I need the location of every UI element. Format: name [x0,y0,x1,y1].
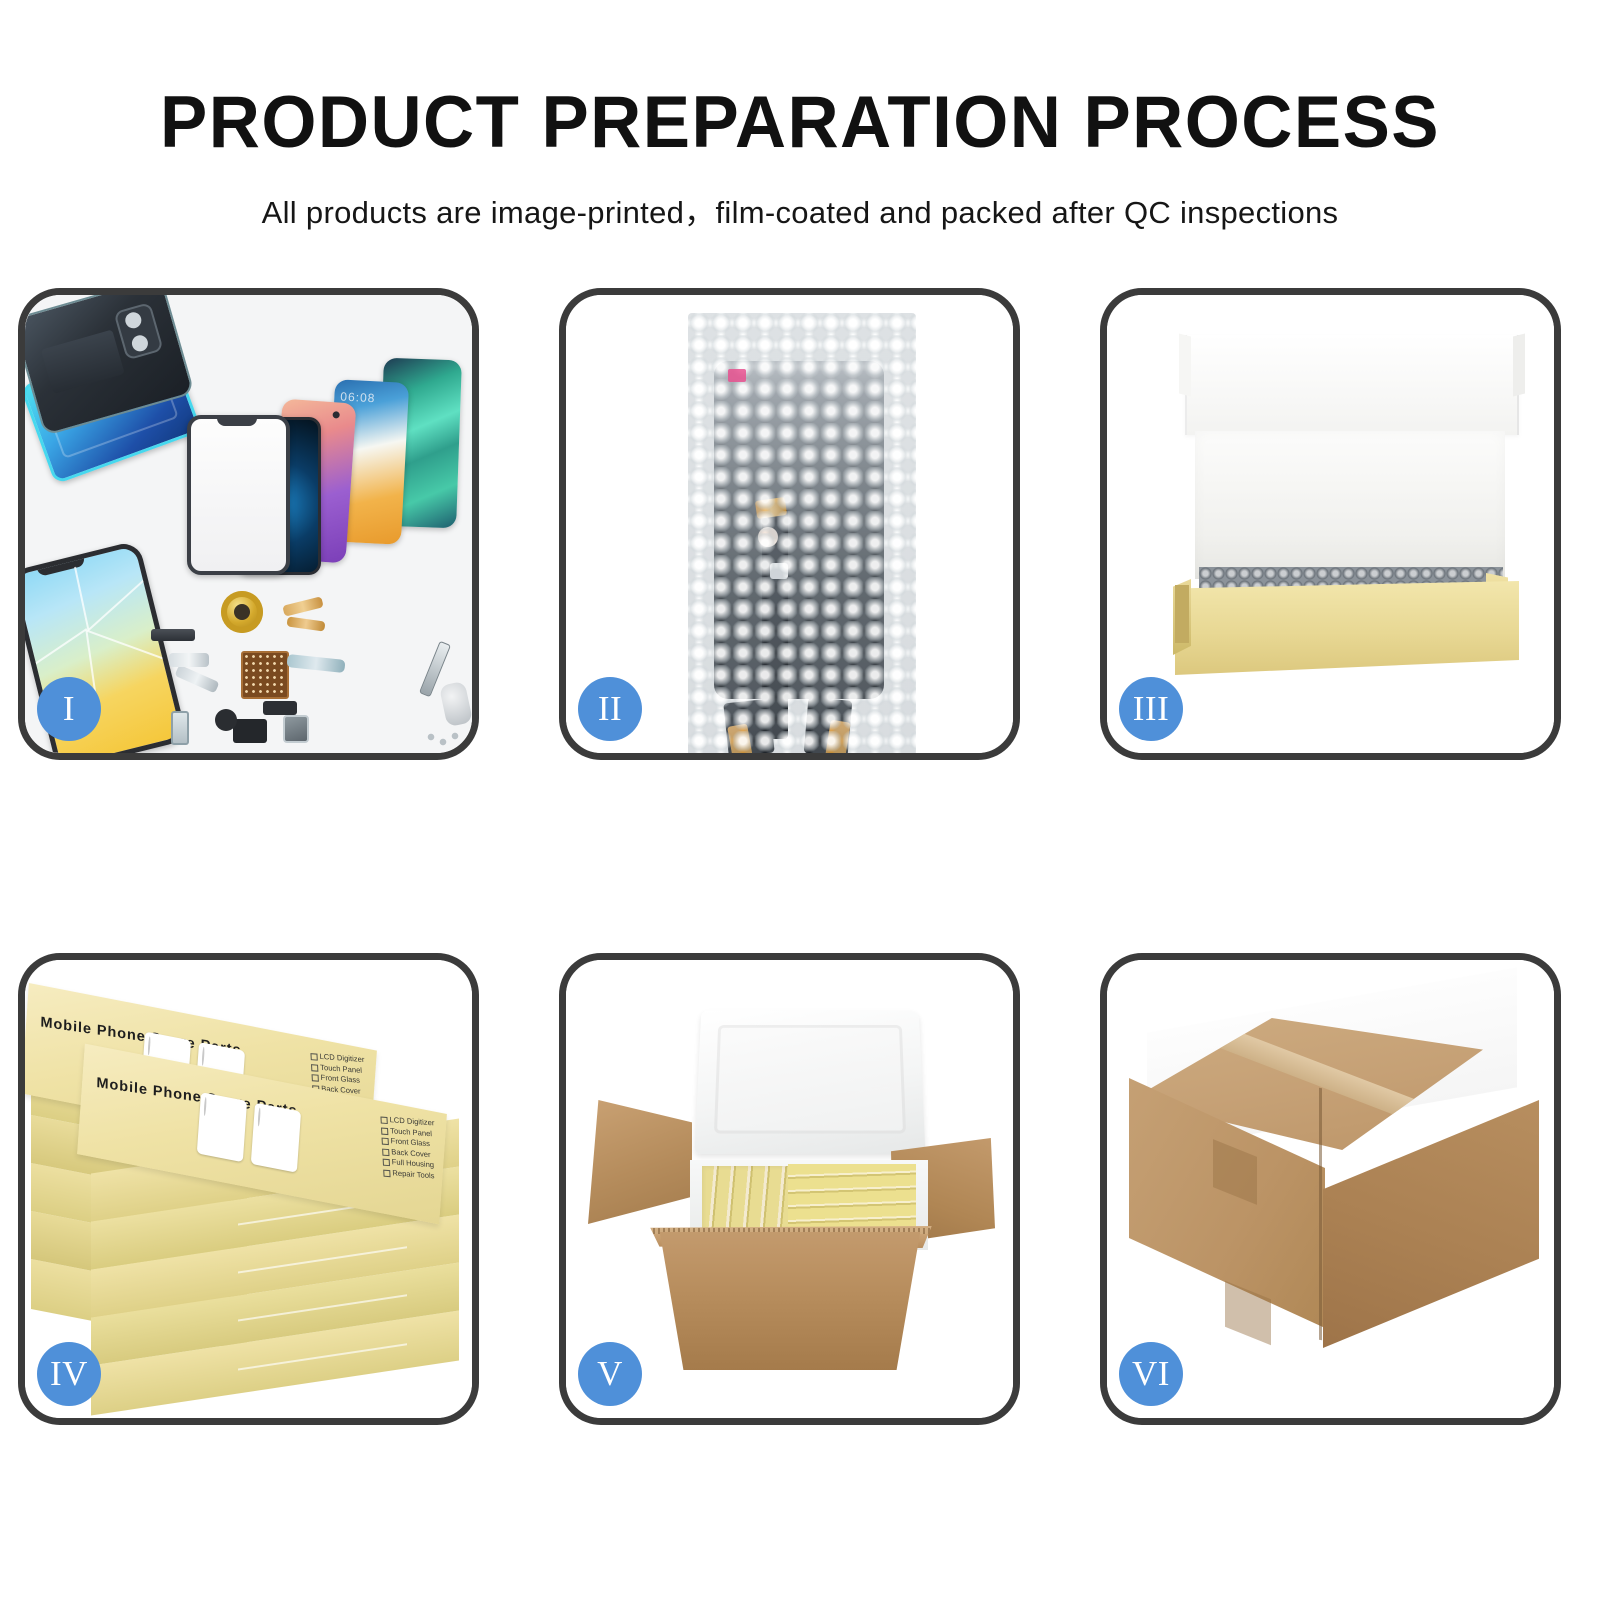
box-seam [238,1294,407,1321]
sim-tray-part [171,711,189,745]
earpiece-speaker-part [151,629,195,641]
box-lid-open [1185,335,1519,435]
bubble-wrap-texture [688,313,916,753]
panel-6-image [1107,960,1554,1418]
camera-part [283,715,309,743]
process-step-panel-4: Mobile Phone Spare Parts LCD Digitizer T… [18,953,479,1425]
crack-line [28,628,87,669]
step-badge-1: I [37,677,101,741]
tempered-glass-protector [187,415,290,575]
panel-1-image: 06:08 [25,295,472,753]
chip-part [263,701,297,715]
taptic-engine-part [233,719,267,743]
bubble-wrap-package [688,313,916,753]
retail-box-checklist: LCD Digitizer Touch Panel Front Glass Ba… [381,1115,438,1182]
panel-3-image [1107,295,1554,753]
phone-graphic [197,1092,247,1162]
crack-line [74,567,89,630]
panel-5-image [566,960,1013,1418]
battery-part [41,329,125,394]
vibration-motor-part [215,709,237,731]
phone-graphic [251,1103,301,1173]
phone-graphic-home-button [203,1097,206,1116]
box-seam [238,1343,407,1370]
white-foam-sheet [1195,431,1505,579]
pink-qc-sticker [728,369,746,382]
process-step-panel-6: VI [1100,953,1561,1425]
ic-chip-part [241,651,289,699]
retail-box-stack: Mobile Phone Spare Parts LCD Digitizer T… [25,960,472,1418]
screws-part [425,731,461,747]
step-badge-5: V [578,1342,642,1406]
carton-front-wall [642,1232,938,1370]
process-step-panel-1: 06:08 [18,288,479,760]
panel-2-image [566,295,1013,753]
page-subtitle: All products are image-printed，film-coat… [0,159,1600,232]
box-seam [238,1246,407,1273]
step-badge-6: VI [1119,1342,1183,1406]
phone-graphic-home-button [147,1036,150,1055]
panel-4-image: Mobile Phone Spare Parts LCD Digitizer T… [25,960,472,1418]
page-title: PRODUCT PREPARATION PROCESS [24,0,1576,159]
crack-line [87,576,148,631]
process-step-grid: 06:08 [18,288,1582,1425]
process-step-panel-5: V [559,953,1020,1425]
camera-module-part [113,302,163,361]
page-header: PRODUCT PREPARATION PROCESS All products… [0,0,1600,232]
process-step-panel-2: II [559,288,1020,760]
step-badge-3: III [1119,677,1183,741]
process-step-panel-3: III [1100,288,1561,760]
carton-vertical-edge [1319,1088,1322,1340]
box-inner-wall-left [1175,585,1189,643]
box-front-panel [1175,581,1519,675]
flex-cable-part [169,653,209,667]
step-badge-4: IV [37,1342,101,1406]
phone-graphic-home-button [201,1047,204,1066]
styrofoam-lid [695,1010,926,1154]
wireless-charging-coil-part [221,591,263,633]
phone-graphic-home-button [257,1107,260,1126]
step-badge-2: II [578,677,642,741]
